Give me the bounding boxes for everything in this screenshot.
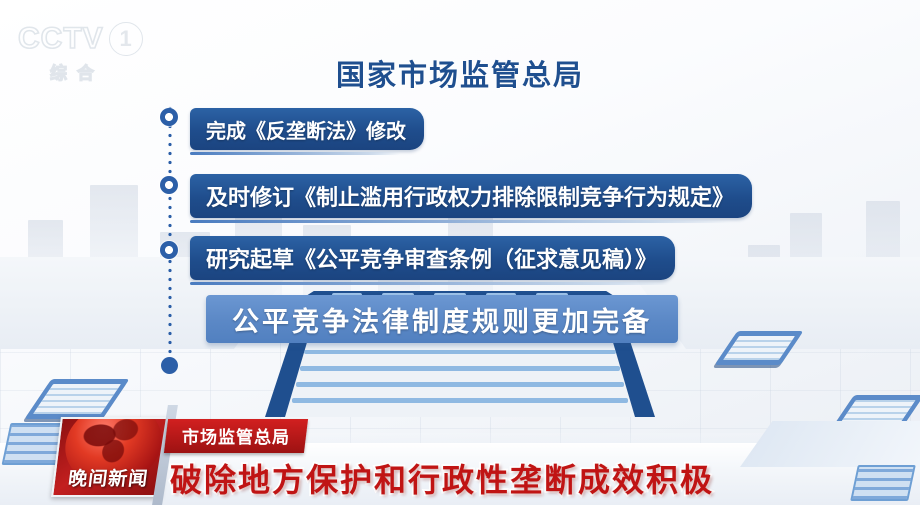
- summary-bar[interactable]: 公平竞争法律制度规则更加完备: [206, 295, 678, 343]
- timeline-end-dot: [161, 357, 178, 374]
- corner-doc-right: [850, 465, 916, 501]
- info-bar-2-underline: [190, 220, 730, 223]
- cctv-logo-text: CCTV: [18, 22, 104, 56]
- program-name: 晚间新闻: [54, 464, 163, 491]
- info-bar-3-label: 研究起草《公平竞争审查条例（征求意见稿）》: [206, 242, 657, 274]
- timeline-marker-2: [160, 176, 178, 194]
- category-tag-label: 市场监管总局: [182, 423, 290, 448]
- lower-band-accent: [740, 421, 920, 467]
- category-tag: 市场监管总局: [164, 419, 308, 453]
- info-bar-3[interactable]: 研究起草《公平竞争审查条例（征求意见稿）》: [190, 236, 675, 280]
- page-title: 国家市场监管总局: [0, 52, 920, 94]
- info-bar-1-underline: [190, 152, 400, 155]
- timeline-marker-1: [160, 108, 178, 126]
- headline: 破除地方保护和行政性垄断成效积极: [170, 455, 714, 501]
- lower-third-banner: 晚间新闻 市场监管总局 破除地方保护和行政性垄断成效积极: [0, 405, 920, 505]
- info-bar-1[interactable]: 完成《反垄断法》修改: [190, 108, 424, 150]
- program-logo: 晚间新闻: [51, 417, 171, 497]
- info-bar-1-label: 完成《反垄断法》修改: [206, 115, 406, 144]
- info-bar-2-label: 及时修订《制止滥用行政权力排除限制竞争行为规定》: [206, 180, 734, 212]
- timeline-marker-3: [160, 241, 178, 259]
- cctv-channel-number: 1: [109, 22, 143, 56]
- info-bar-2[interactable]: 及时修订《制止滥用行政权力排除限制竞争行为规定》: [190, 174, 752, 218]
- info-bar-3-underline: [190, 282, 670, 285]
- timeline-spine: [168, 104, 172, 366]
- summary-bar-label: 公平竞争法律制度规则更加完备: [232, 300, 652, 339]
- broadcast-screen: CCTV 1 综合 国家市场监管总局 完成《反垄断法》修改 及时修订《制止滥用行…: [0, 0, 920, 505]
